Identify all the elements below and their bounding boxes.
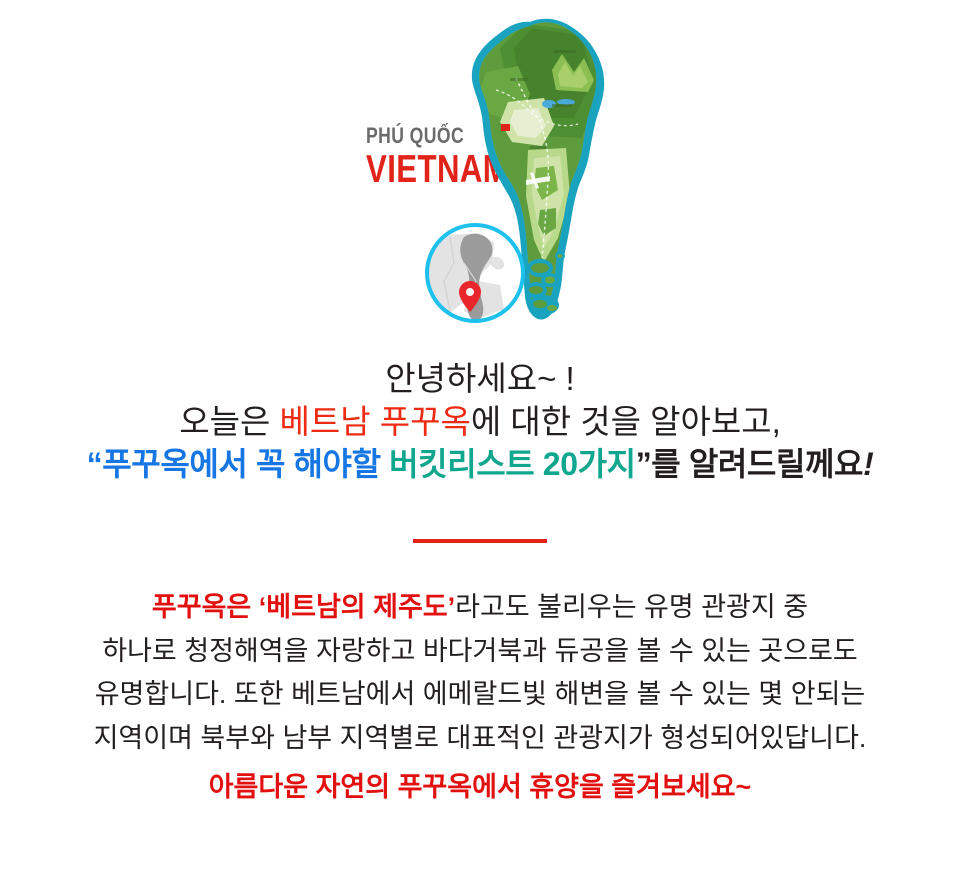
- body-line-1-strong: 푸꾸옥은 ‘베트남의 제주도’: [152, 592, 455, 622]
- body-line-3: 유명합니다. 또한 베트남에서 에메랄드빛 해변을 볼 수 있는 몇 안되는: [0, 673, 960, 717]
- section-divider: [413, 539, 547, 543]
- headline-l3-blue: 푸꾸옥에서 꼭 해야할: [102, 446, 380, 482]
- headline-line-1: 안녕하세요~ !: [0, 358, 960, 401]
- headline-l3-space: [381, 446, 390, 482]
- vietnam-locator-map: [420, 219, 530, 327]
- headline-open-quote: “: [87, 446, 103, 482]
- body-line-1: 푸꾸옥은 ‘베트남의 제주도’라고도 불리우는 유명 관광지 중: [0, 586, 960, 630]
- hero-section: PHÚ QUỐC VIETNAM: [0, 0, 960, 330]
- body-line-4: 지역이며 북부와 남부 지역별로 대표적인 관광지가 형성되어있답니다.: [0, 717, 960, 761]
- body-line-2: 하나로 청정해역을 자랑하고 바다거북과 듀공을 볼 수 있는 곳으로도: [0, 630, 960, 674]
- headline-line-2: 오늘은 베트남 푸꾸옥에 대한 것을 알아보고,: [0, 401, 960, 444]
- locator-landmass: [420, 219, 530, 327]
- headline-l2-suffix: 에 대한 것을 알아보고,: [471, 403, 781, 440]
- headline-close-quote: ”: [636, 446, 652, 482]
- headline-l2-highlight: 베트남 푸꾸옥: [279, 403, 470, 440]
- body-line-1-rest: 라고도 불리우는 유명 관광지 중: [455, 592, 808, 622]
- body-copy-block: 푸꾸옥은 ‘베트남의 제주도’라고도 불리우는 유명 관광지 중 하나로 청정해…: [0, 586, 960, 810]
- page-root: PHÚ QUỐC VIETNAM: [0, 0, 960, 880]
- headline-l3-exclaim: !: [863, 446, 873, 482]
- headline-l3-teal: 버킷리스트 20가지: [389, 446, 636, 482]
- headline-greeting: 안녕하세요~ !: [385, 360, 574, 397]
- headline-block: 안녕하세요~ ! 오늘은 베트남 푸꾸옥에 대한 것을 알아보고, “푸꾸옥에서…: [0, 358, 960, 485]
- headline-l2-prefix: 오늘은: [179, 403, 279, 440]
- body-line-5-closing: 아름다운 자연의 푸꾸옥에서 휴양을 즐겨보세요~: [0, 766, 960, 810]
- headline-line-3: “푸꾸옥에서 꼭 해야할 버킷리스트 20가지”를 알려드릴께요!: [0, 444, 960, 486]
- headline-l3-tail: 를 알려드릴께요: [651, 446, 863, 482]
